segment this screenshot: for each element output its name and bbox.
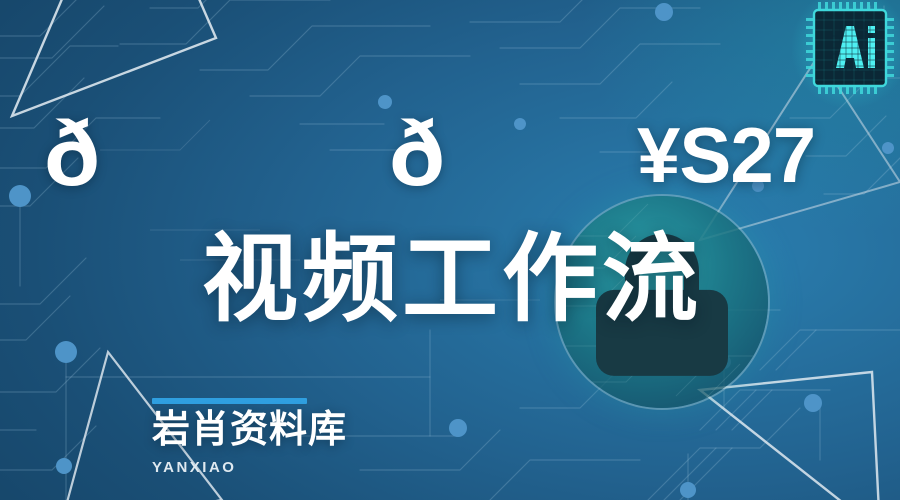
dot-right-lower xyxy=(680,482,696,498)
price-label: ¥S27 xyxy=(637,116,815,194)
brand-accent-bar xyxy=(152,398,307,404)
decorative-glyph-left: ð xyxy=(44,108,100,200)
brand-block: 岩肖资料库 YANXIAO xyxy=(152,398,412,476)
triangle-top-left xyxy=(0,0,270,140)
dot-far-right xyxy=(882,142,894,154)
brand-name-en: YANXIAO xyxy=(152,459,412,476)
page-title: 视频工作流 xyxy=(202,228,702,332)
brand-name-cn: 岩肖资料库 xyxy=(152,410,412,452)
dot-mid-left xyxy=(55,341,77,363)
dot-top-center-2 xyxy=(514,118,526,130)
dot-center-bottom xyxy=(449,419,467,437)
dot-top-left xyxy=(9,185,31,207)
ai-chip-icon xyxy=(806,2,894,94)
dot-top-right xyxy=(655,3,673,21)
dot-mid-left-2 xyxy=(56,458,72,474)
promo-banner: ð ð ¥S27 视频工作流 岩肖资料库 YANXIAO xyxy=(0,0,900,500)
decorative-glyph-mid: ð xyxy=(389,108,445,200)
dot-right-mid xyxy=(804,394,822,412)
